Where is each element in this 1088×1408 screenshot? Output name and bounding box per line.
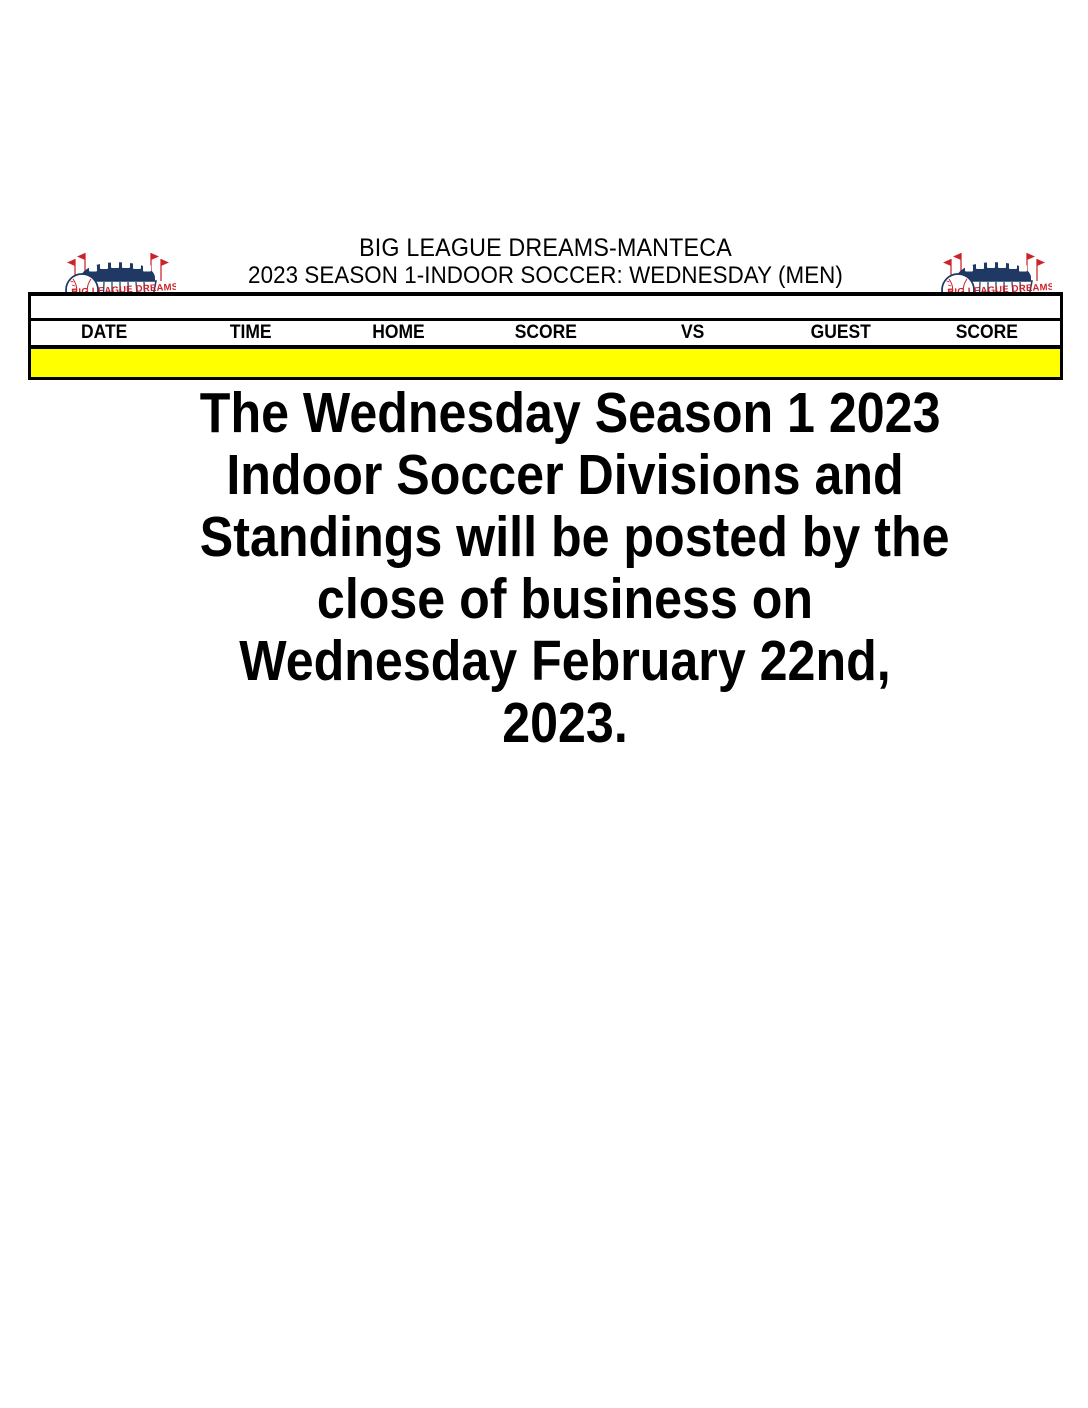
notice-line-6: 2023. [200, 692, 930, 754]
column-header-vs-label: VS [681, 322, 704, 344]
column-header-vs[interactable]: VS [619, 320, 766, 348]
page-sheet: BIG LEAGUE DREAMS-MANTECA 2023 SEASON 1-… [0, 0, 1088, 1408]
notice-message: The Wednesday Season 1 2023 Indoor Socce… [150, 382, 980, 754]
notice-line-5: Wednesday February 22nd, [200, 630, 930, 692]
table-highlight-row [30, 347, 1062, 379]
column-header-date[interactable]: DATE [30, 320, 177, 348]
notice-line-1: The Wednesday Season 1 2023 [200, 382, 930, 444]
page-title: BIG LEAGUE DREAMS-MANTECA [64, 234, 1027, 262]
table-highlight-cell [30, 347, 1062, 379]
notice-line-2: Indoor Soccer Divisions and [200, 444, 930, 506]
column-header-time[interactable]: TIME [177, 320, 324, 348]
notice-line-4: close of business on [200, 568, 930, 630]
column-header-guest-label: GUEST [810, 322, 870, 344]
schedule-table: DATE TIME HOME SCORE VS GUEST SC [28, 292, 1063, 380]
title-block: BIG LEAGUE DREAMS-MANTECA 2023 SEASON 1-… [28, 234, 1063, 290]
table-top-spacer-cell [30, 294, 1062, 320]
column-header-date-label: DATE [81, 322, 127, 344]
table-header-row: DATE TIME HOME SCORE VS GUEST SC [30, 320, 1062, 348]
column-header-home-score-label: SCORE [514, 322, 576, 344]
table-top-spacer-row [30, 294, 1062, 320]
column-header-time-label: TIME [230, 322, 272, 344]
page-subtitle: 2023 SEASON 1-INDOOR SOCCER: WEDNESDAY (… [64, 262, 1027, 290]
schedule-header: BIG LEAGUE DREAMS-MANTECA 2023 SEASON 1-… [28, 234, 1063, 292]
notice-line-3: Standings will be posted by the [200, 506, 930, 568]
column-header-guest[interactable]: GUEST [767, 320, 914, 348]
column-header-home-label: HOME [372, 322, 424, 344]
column-header-guest-score[interactable]: SCORE [914, 320, 1061, 348]
column-header-home[interactable]: HOME [324, 320, 471, 348]
column-header-guest-score-label: SCORE [956, 322, 1018, 344]
column-header-home-score[interactable]: SCORE [472, 320, 619, 348]
